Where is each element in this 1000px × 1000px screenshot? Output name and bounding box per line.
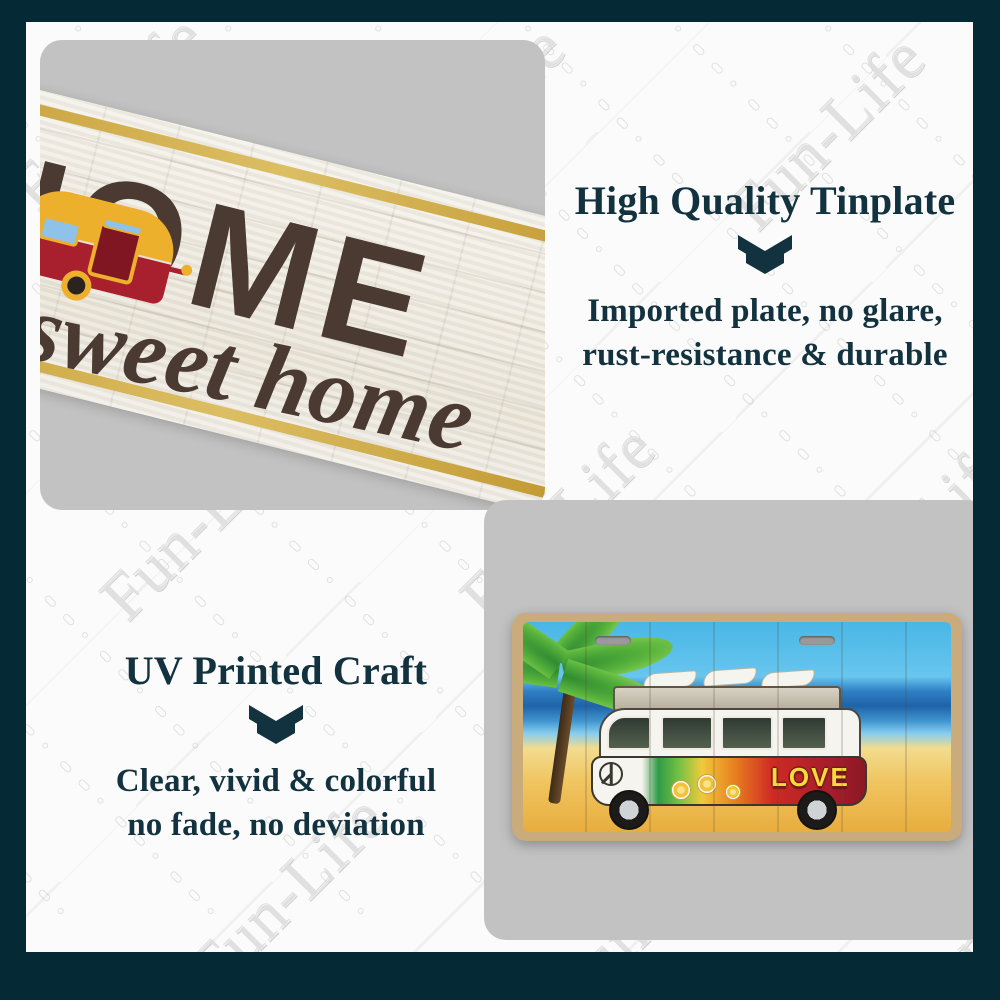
plate-artwork: LOVE	[523, 622, 951, 832]
feature-block-uv-print: UV Printed Craft Clear, vivid & colorful…	[50, 647, 502, 847]
feature-title-uv-print: UV Printed Craft	[50, 647, 502, 695]
license-plate: LOVE	[512, 613, 962, 841]
mounting-hole-left	[595, 636, 631, 645]
feature-block-tinplate: High Quality Tinplate Imported plate, no…	[531, 177, 973, 377]
plate-plank-texture	[523, 622, 951, 832]
photo-vw-love-bus-plate: LOVE	[484, 500, 973, 940]
photo-home-sweet-home: HOME sweet home	[40, 40, 545, 510]
feature-subtitle-uv-print-line2: no fade, no deviation	[50, 803, 502, 847]
mounting-hole-right	[799, 636, 835, 645]
feature-subtitle-tinplate-line1: Imported plate, no glare,	[531, 289, 973, 333]
product-feature-graphic: Fun-LifeFun-LifeFun-LifeFun-LifeFun-Life…	[0, 0, 1000, 1000]
feature-subtitle-tinplate-line2: rust-resistance & durable	[531, 333, 973, 377]
feature-title-tinplate: High Quality Tinplate	[531, 177, 973, 225]
double-chevron-down-icon	[247, 703, 305, 745]
tin-sign-closeup: HOME sweet home	[40, 70, 545, 510]
double-chevron-down-icon	[736, 233, 794, 275]
feature-subtitle-uv-print-line1: Clear, vivid & colorful	[50, 759, 502, 803]
inner-canvas: Fun-LifeFun-LifeFun-LifeFun-LifeFun-Life…	[26, 22, 973, 952]
